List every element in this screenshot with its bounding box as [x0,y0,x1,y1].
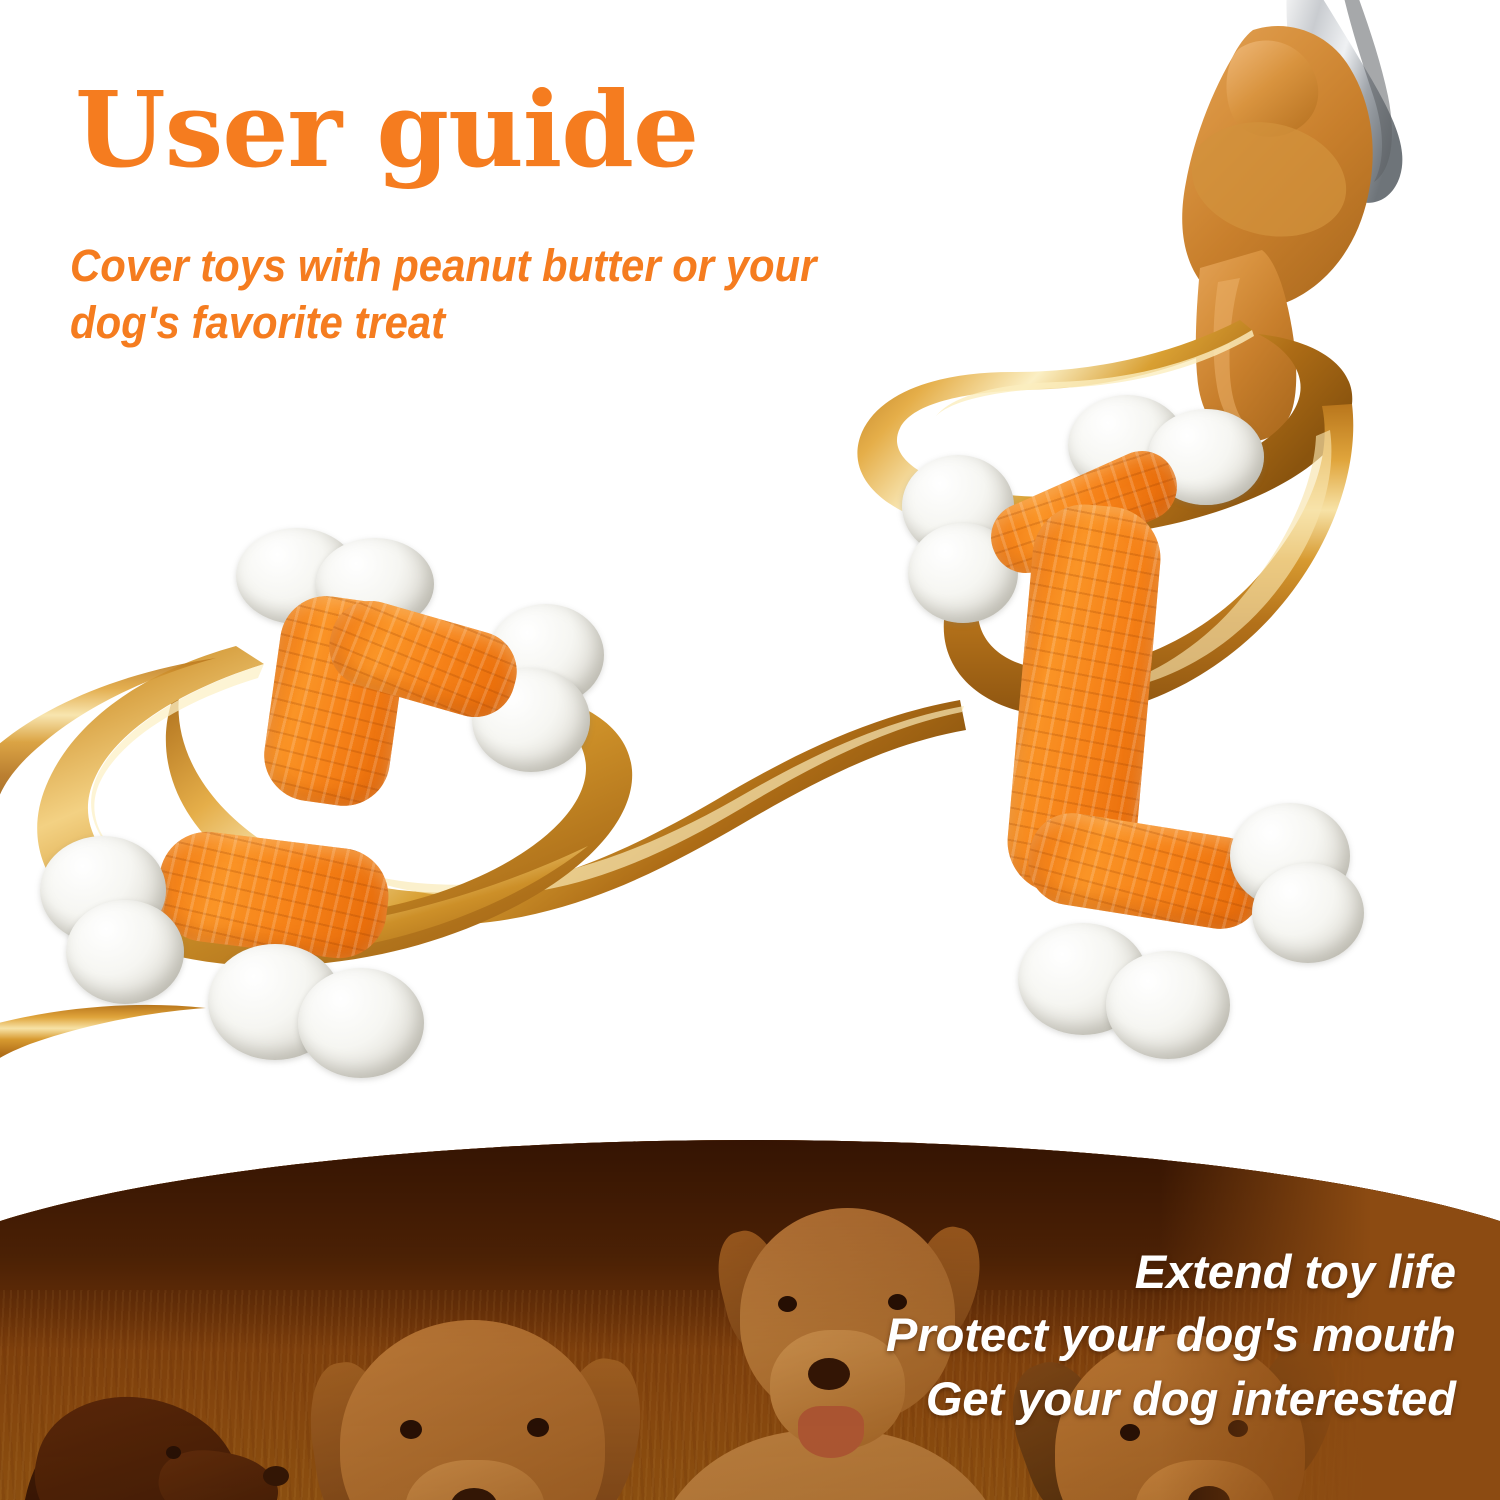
benefit-item: Get your dog interested [696,1367,1456,1430]
bone-knob [1106,951,1230,1059]
benefit-list: Extend toy life Protect your dog's mouth… [696,1240,1456,1430]
bone-knob [298,968,424,1078]
page-subtitle: Cover toys with peanut butter or your do… [70,237,888,351]
bone-knob [66,900,184,1004]
page-title: User guide [75,78,698,182]
spoon-icon [1286,0,1402,203]
bone-knob [1252,863,1364,963]
product-infographic: User guide Cover toys with peanut butter… [0,0,1500,1500]
benefit-item: Protect your dog's mouth [696,1303,1456,1366]
peanut-butter-dollop [1182,26,1372,441]
benefit-item: Extend toy life [696,1240,1456,1303]
dog-bone-chew-toy-right [900,395,1370,1085]
